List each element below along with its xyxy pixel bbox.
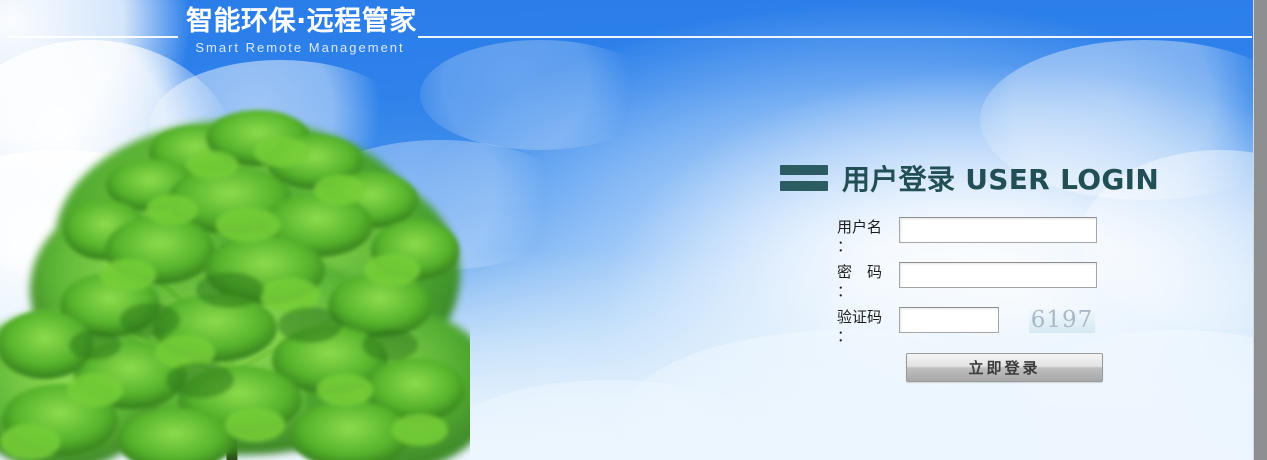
brand-title-cn: 智能环保·远程管家 bbox=[186, 6, 414, 38]
username-input[interactable] bbox=[899, 217, 1097, 243]
username-label-text: 用户名 bbox=[837, 218, 882, 236]
password-input[interactable] bbox=[899, 262, 1097, 288]
captcha-row: 验证码 ： 6197 bbox=[837, 307, 1145, 343]
captcha-input[interactable] bbox=[899, 307, 999, 333]
password-label-colon: ： bbox=[837, 282, 899, 301]
login-panel: 用户登录 USER LOGIN 用户名 ： 密 码 ： 验证码 bbox=[775, 155, 1145, 382]
password-row: 密 码 ： bbox=[837, 262, 1145, 298]
captcha-label-colon: ： bbox=[837, 327, 899, 346]
password-label: 密 码 ： bbox=[837, 262, 899, 301]
captcha-label: 验证码 ： bbox=[837, 307, 899, 346]
login-title-row: 用户登录 USER LOGIN bbox=[780, 155, 1145, 201]
login-heading: 用户登录 USER LOGIN bbox=[842, 158, 1159, 198]
brand: 智能环保·远程管家 Smart Remote Management bbox=[186, 6, 414, 57]
header-rule-right bbox=[418, 36, 1252, 38]
brand-subtitle-en: Smart Remote Management bbox=[186, 39, 414, 57]
header-rule-left bbox=[8, 36, 178, 38]
captcha-label-text: 验证码 bbox=[837, 308, 882, 326]
equals-bars-icon bbox=[780, 165, 828, 191]
login-form: 用户名 ： 密 码 ： 验证码 ： 6197 bbox=[837, 217, 1145, 382]
username-label-colon: ： bbox=[837, 237, 899, 256]
vertical-scrollbar[interactable] bbox=[1253, 0, 1267, 460]
password-label-text: 密 码 bbox=[837, 263, 882, 281]
page-header: 智能环保·远程管家 Smart Remote Management bbox=[0, 0, 1253, 66]
username-label: 用户名 ： bbox=[837, 217, 899, 256]
login-submit-button[interactable]: 立即登录 bbox=[906, 353, 1103, 382]
submit-row: 立即登录 bbox=[906, 353, 1145, 382]
captcha-code-image[interactable]: 6197 bbox=[1029, 307, 1095, 333]
username-row: 用户名 ： bbox=[837, 217, 1145, 253]
login-page: 智能环保·远程管家 Smart Remote Management 用户登录 U… bbox=[0, 0, 1267, 460]
